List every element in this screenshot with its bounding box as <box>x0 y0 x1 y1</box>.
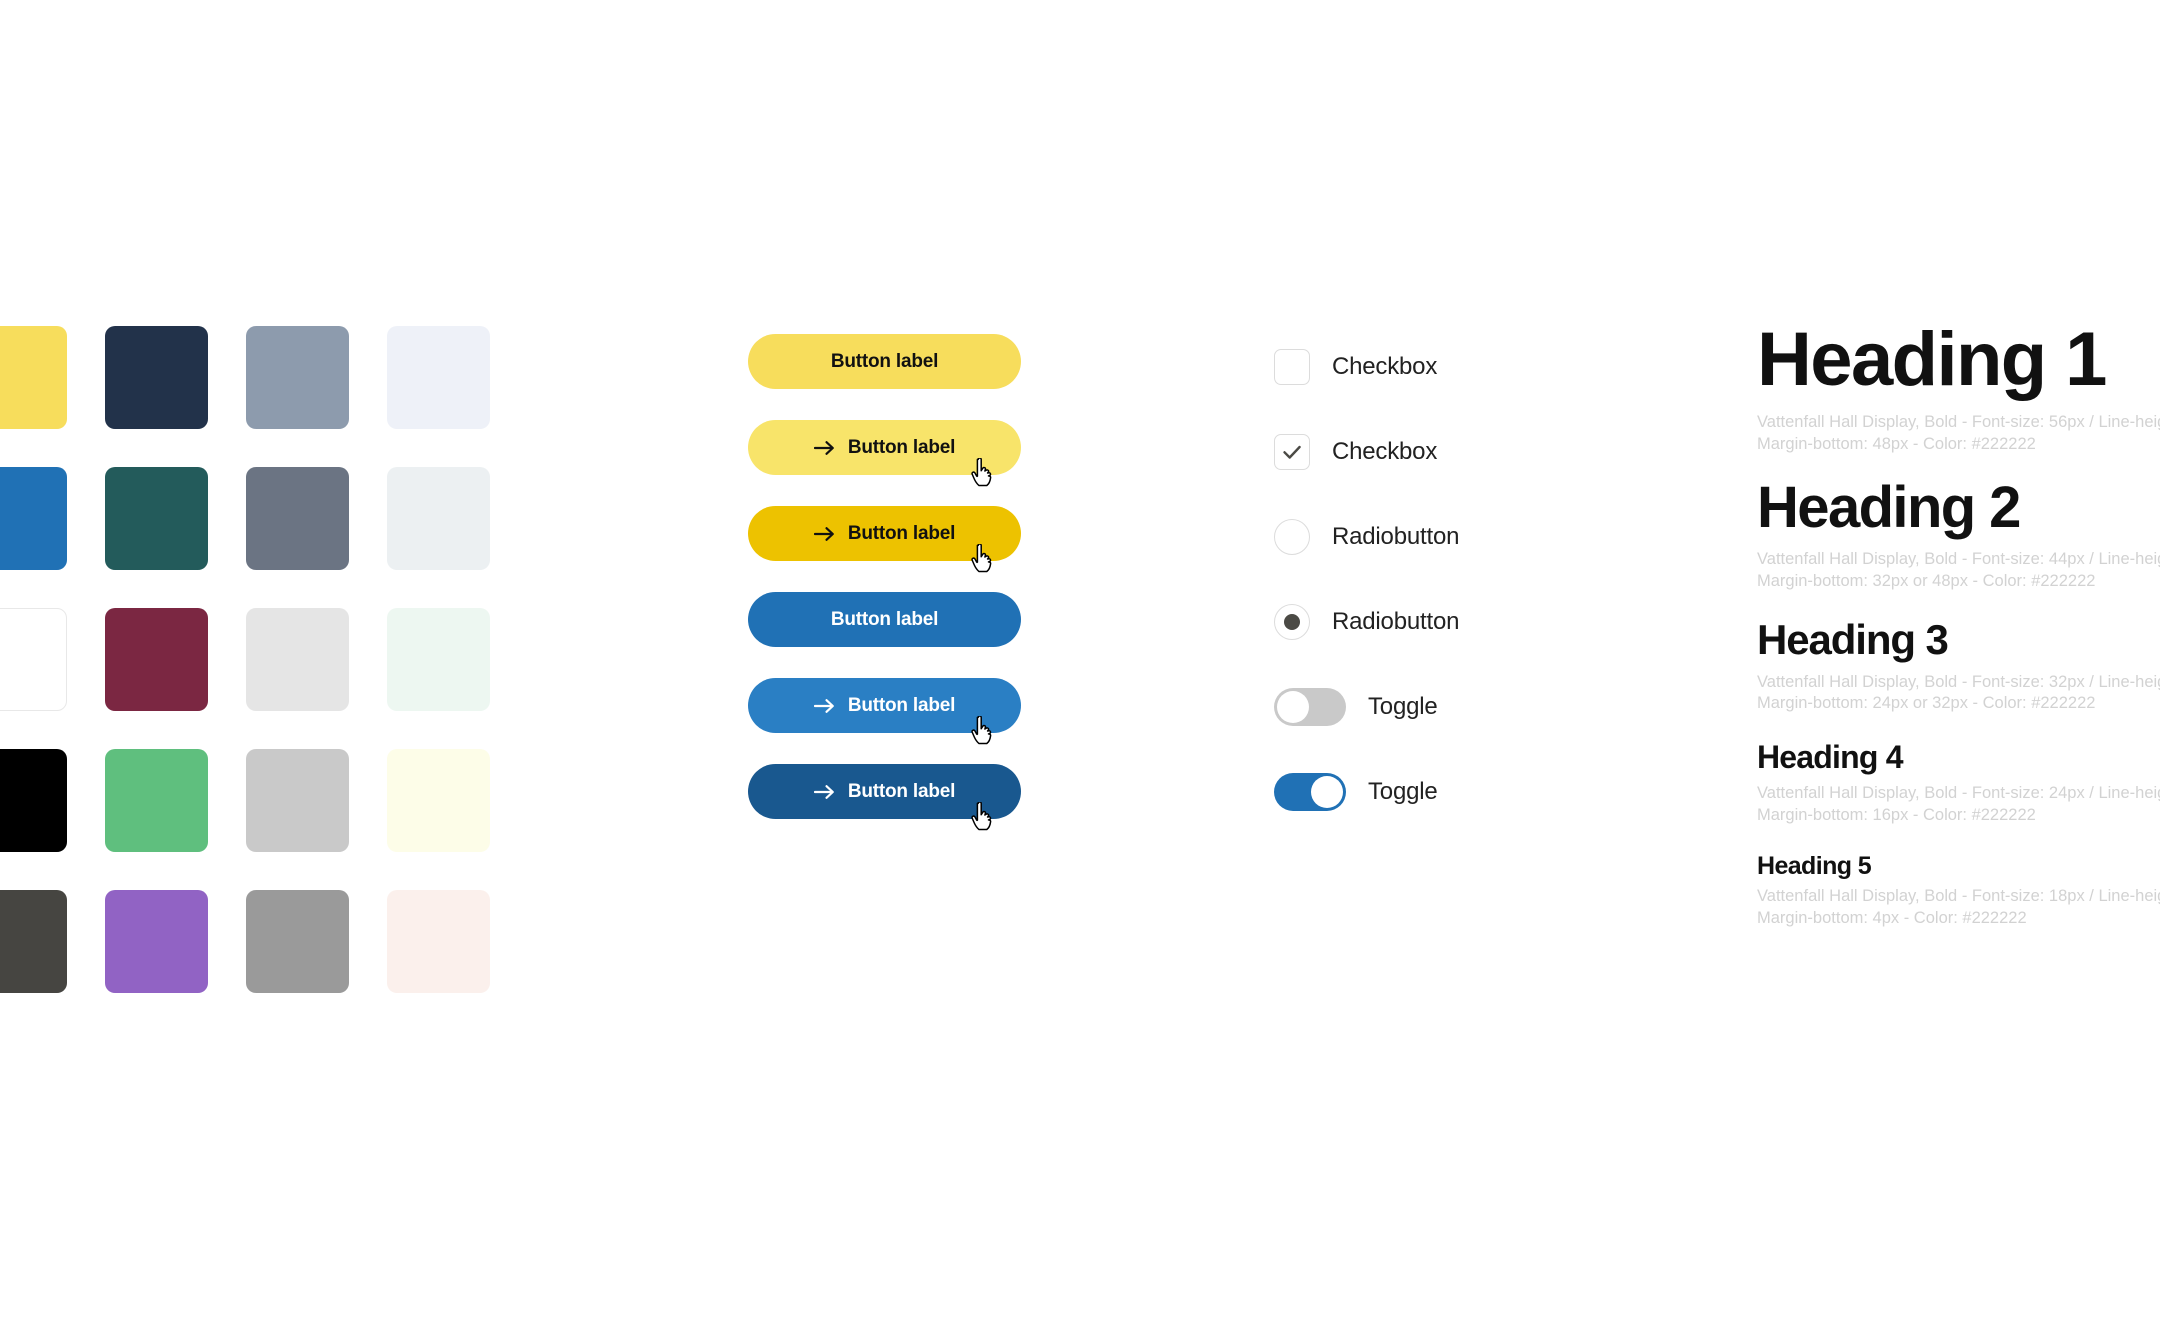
button-label: Button label <box>848 437 955 459</box>
color-swatch-gray-blue[interactable] <box>246 467 349 570</box>
color-swatch-gray-medium-light[interactable] <box>246 749 349 852</box>
control-row-toggle-unchecked[interactable]: Toggle <box>1274 680 1459 733</box>
type-block-heading-5: Heading 5 Vattenfall Hall Display, Bold … <box>1757 853 2160 930</box>
color-swatch-blue-gray-tint[interactable] <box>387 467 490 570</box>
checkmark-icon <box>1280 440 1304 464</box>
type-block-heading-3: Heading 3 Vattenfall Hall Display, Bold … <box>1757 618 2160 715</box>
color-swatch-gray-light[interactable] <box>246 608 349 711</box>
color-swatch-yellow-tint[interactable] <box>387 749 490 852</box>
button-blue[interactable]: Button label <box>748 592 1021 647</box>
control-label: Radiobutton <box>1332 608 1459 636</box>
heading-3-spec-line-2: Margin-bottom: 24px or 32px - Color: #22… <box>1757 693 2160 715</box>
control-row-toggle-checked[interactable]: Toggle <box>1274 765 1459 818</box>
button-yellow-active[interactable]: Button label <box>748 506 1021 561</box>
button-variants-list: Button labelButton labelButton labelButt… <box>748 334 1021 819</box>
toggle-knob[interactable] <box>1311 776 1343 808</box>
arrow-right-icon <box>814 784 835 800</box>
heading-2-spec-line-1: Vattenfall Hall Display, Bold - Font-siz… <box>1757 549 2160 571</box>
heading-5-spec-line-2: Margin-bottom: 4px - Color: #222222 <box>1757 908 2160 930</box>
form-controls-list: CheckboxCheckboxRadiobuttonRadiobuttonTo… <box>1274 340 1459 818</box>
button-label: Button label <box>848 523 955 545</box>
control-label: Radiobutton <box>1332 523 1459 551</box>
button-yellow[interactable]: Button label <box>748 334 1021 389</box>
color-swatch-mint-tint[interactable] <box>387 608 490 711</box>
type-block-heading-1: Heading 1 Vattenfall Hall Display, Bold … <box>1757 320 2160 456</box>
design-system-canvas: Button labelButton labelButton labelButt… <box>0 0 2160 1320</box>
button-blue-hover[interactable]: Button label <box>748 678 1021 733</box>
color-swatch-magenta-dark[interactable] <box>105 608 208 711</box>
toggle-knob[interactable] <box>1277 691 1309 723</box>
checkbox-checked[interactable] <box>1274 434 1310 470</box>
color-swatch-teal-dark[interactable] <box>105 467 208 570</box>
radiobutton-unselected[interactable] <box>1274 519 1310 555</box>
arrow-right-icon <box>814 698 835 714</box>
color-palette-grid <box>0 326 490 993</box>
button-label: Button label <box>848 781 955 803</box>
arrow-right-icon <box>814 526 835 542</box>
radiobutton-selected[interactable] <box>1274 604 1310 640</box>
button-yellow-hover[interactable]: Button label <box>748 420 1021 475</box>
heading-2-spec-line-2: Margin-bottom: 32px or 48px - Color: #22… <box>1757 571 2160 593</box>
heading-4-spec-line-1: Vattenfall Hall Display, Bold - Font-siz… <box>1757 783 2160 805</box>
heading-1-sample: Heading 1 <box>1757 320 2160 400</box>
control-label: Checkbox <box>1332 353 1437 381</box>
control-label: Toggle <box>1368 778 1438 806</box>
button-label: Button label <box>848 695 955 717</box>
toggle-switch-off[interactable] <box>1274 688 1346 726</box>
heading-1-spec-line-2: Margin-bottom: 48px - Color: #222222 <box>1757 434 2160 456</box>
color-swatch-yellow-primary[interactable] <box>0 326 67 429</box>
heading-3-sample: Heading 3 <box>1757 618 2160 662</box>
pointer-hand-cursor-icon <box>971 716 997 746</box>
type-block-heading-2: Heading 2 Vattenfall Hall Display, Bold … <box>1757 478 2160 593</box>
color-swatch-white[interactable] <box>0 608 67 711</box>
heading-5-sample: Heading 5 <box>1757 853 2160 879</box>
heading-2-sample: Heading 2 <box>1757 478 2160 539</box>
heading-3-spec-line-1: Vattenfall Hall Display, Bold - Font-siz… <box>1757 672 2160 694</box>
color-swatch-pink-tint[interactable] <box>387 890 490 993</box>
control-row-checkbox-unchecked[interactable]: Checkbox <box>1274 340 1459 393</box>
color-swatch-navy-dark[interactable] <box>105 326 208 429</box>
color-swatch-blue-primary[interactable] <box>0 467 67 570</box>
color-swatch-purple[interactable] <box>105 890 208 993</box>
arrow-right-icon <box>814 440 835 456</box>
control-row-checkbox-checked[interactable]: Checkbox <box>1274 425 1459 478</box>
typography-scale: Heading 1 Vattenfall Hall Display, Bold … <box>1757 320 2160 930</box>
control-label: Checkbox <box>1332 438 1437 466</box>
button-label: Button label <box>831 351 938 373</box>
type-block-heading-4: Heading 4 Vattenfall Hall Display, Bold … <box>1757 741 2160 826</box>
pointer-hand-cursor-icon <box>971 544 997 574</box>
color-swatch-slate-gray[interactable] <box>246 326 349 429</box>
control-row-radiobutton-unchecked[interactable]: Radiobutton <box>1274 510 1459 563</box>
pointer-hand-cursor-icon <box>971 458 997 488</box>
color-swatch-gray-medium[interactable] <box>246 890 349 993</box>
control-row-radiobutton-checked[interactable]: Radiobutton <box>1274 595 1459 648</box>
heading-4-spec-line-2: Margin-bottom: 16px - Color: #222222 <box>1757 805 2160 827</box>
checkbox-unchecked[interactable] <box>1274 349 1310 385</box>
color-swatch-green-medium[interactable] <box>105 749 208 852</box>
color-swatch-charcoal[interactable] <box>0 890 67 993</box>
pointer-hand-cursor-icon <box>971 802 997 832</box>
control-label: Toggle <box>1368 693 1438 721</box>
color-swatch-black[interactable] <box>0 749 67 852</box>
color-swatch-blue-tint-lightest[interactable] <box>387 326 490 429</box>
button-label: Button label <box>831 609 938 631</box>
button-blue-active[interactable]: Button label <box>748 764 1021 819</box>
radio-dot-icon <box>1284 614 1300 630</box>
heading-5-spec-line-1: Vattenfall Hall Display, Bold - Font-siz… <box>1757 886 2160 908</box>
toggle-switch-on[interactable] <box>1274 773 1346 811</box>
heading-1-spec-line-1: Vattenfall Hall Display, Bold - Font-siz… <box>1757 412 2160 434</box>
heading-4-sample: Heading 4 <box>1757 741 2160 775</box>
